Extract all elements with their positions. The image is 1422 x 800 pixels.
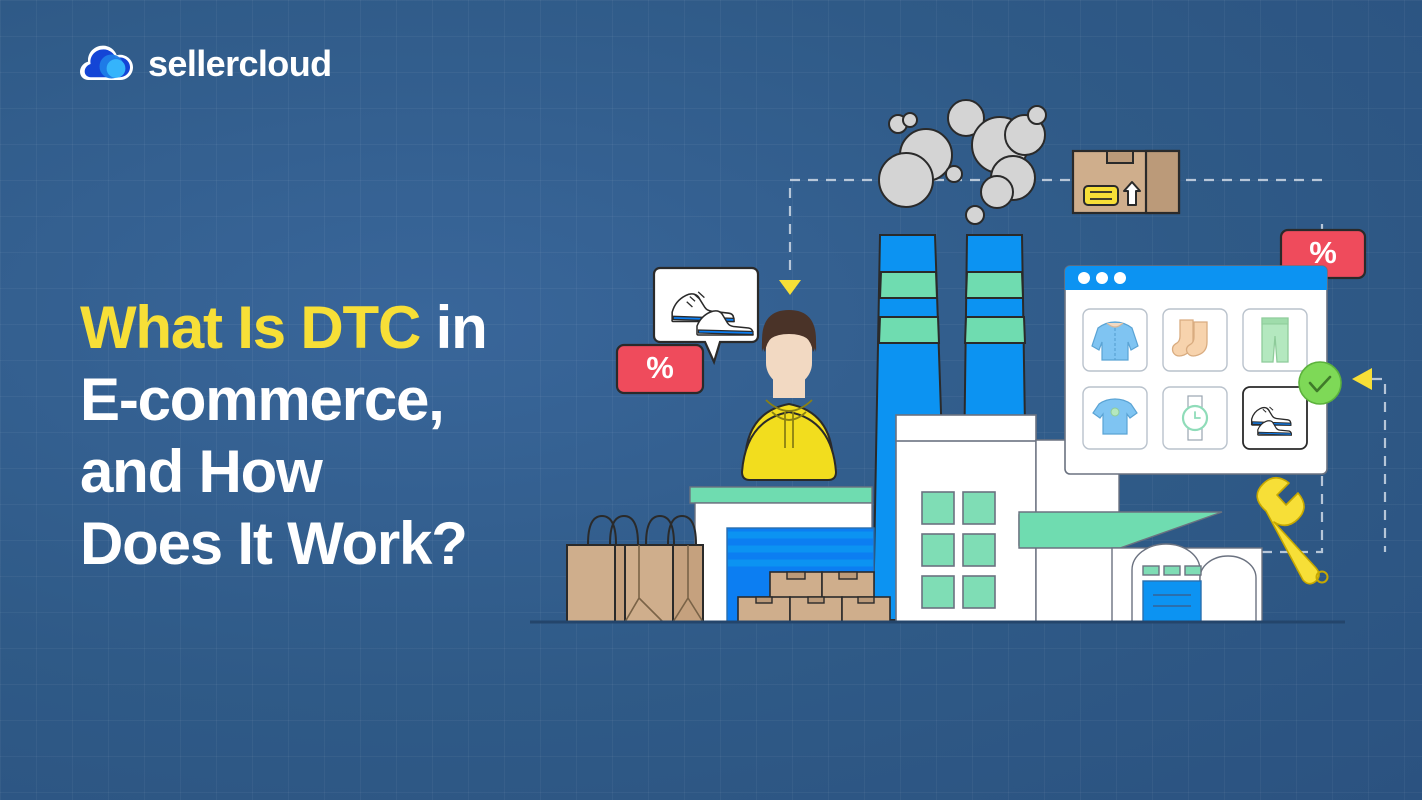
product-sneaker[interactable]	[1243, 387, 1307, 449]
product-jacket[interactable]	[1083, 309, 1147, 371]
product-socks[interactable]	[1163, 309, 1227, 371]
storefront-browser-window[interactable]	[1065, 266, 1341, 474]
hero-illustration: % %	[0, 0, 1422, 800]
product-watch[interactable]	[1163, 387, 1227, 449]
selected-check-badge	[1299, 362, 1341, 404]
product-pants[interactable]	[1243, 309, 1307, 371]
banner: sellercloud What Is DTC in E-commerce, a…	[0, 0, 1422, 800]
wrench-icon	[1257, 478, 1327, 584]
shipping-label	[1084, 186, 1118, 205]
triangle-down-icon	[779, 280, 801, 295]
discount-badge-right-label: %	[1309, 235, 1337, 270]
warehouse-left	[690, 487, 890, 622]
discount-badge-left[interactable]: %	[617, 345, 703, 393]
warehouse-right-windows	[1143, 566, 1201, 575]
browser-dots	[1078, 272, 1126, 284]
smoke-cloud-icon	[879, 100, 1046, 224]
shopping-bags	[567, 516, 703, 622]
discount-badge-left-label: %	[646, 350, 674, 385]
product-tshirt[interactable]	[1083, 387, 1147, 449]
shipping-box	[1073, 151, 1179, 213]
triangle-left-icon	[1352, 368, 1372, 390]
